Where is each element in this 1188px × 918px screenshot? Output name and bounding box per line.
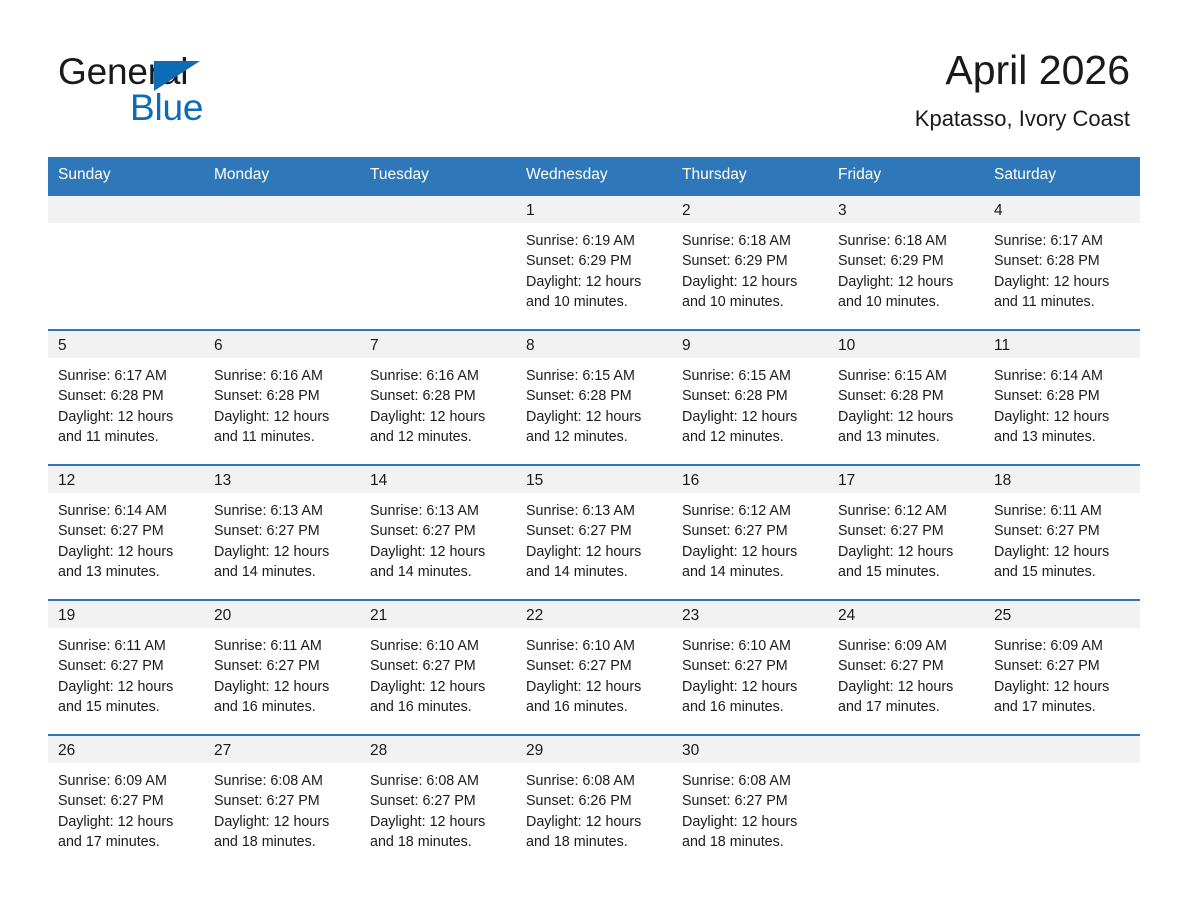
day-cell-inner [360,194,516,329]
day-detail-line: Sunset: 6:28 PM [994,251,1130,271]
day-cell-inner: 21Sunrise: 6:10 AMSunset: 6:27 PMDayligh… [360,599,516,734]
day-cell-inner: 4Sunrise: 6:17 AMSunset: 6:28 PMDaylight… [984,194,1140,329]
day-detail-line: Sunset: 6:27 PM [838,656,974,676]
day-detail-line: Sunset: 6:28 PM [994,386,1130,406]
day-details: Sunrise: 6:12 AMSunset: 6:27 PMDaylight:… [828,493,984,583]
day-detail-line: and 10 minutes. [838,292,974,312]
day-detail-line: Sunrise: 6:17 AM [58,366,194,386]
day-detail-line: Sunset: 6:28 PM [682,386,818,406]
calendar-day-cell[interactable]: 29Sunrise: 6:08 AMSunset: 6:26 PMDayligh… [516,734,672,869]
day-detail-line: Sunrise: 6:15 AM [838,366,974,386]
day-cell-inner: 13Sunrise: 6:13 AMSunset: 6:27 PMDayligh… [204,464,360,599]
day-details: Sunrise: 6:16 AMSunset: 6:28 PMDaylight:… [204,358,360,448]
day-detail-line: Daylight: 12 hours [58,677,194,697]
day-detail-line: and 18 minutes. [370,832,506,852]
day-detail-line: Daylight: 12 hours [526,812,662,832]
day-detail-line: Sunrise: 6:13 AM [370,501,506,521]
day-number: 17 [828,466,984,493]
day-detail-line: Sunrise: 6:15 AM [682,366,818,386]
day-detail-line: Daylight: 12 hours [526,677,662,697]
calendar-day-cell[interactable]: 17Sunrise: 6:12 AMSunset: 6:27 PMDayligh… [828,464,984,599]
day-detail-line: Daylight: 12 hours [214,542,350,562]
weekday-header: SundayMondayTuesdayWednesdayThursdayFrid… [48,157,1140,194]
day-detail-line: and 11 minutes. [994,292,1130,312]
calendar-day-cell[interactable]: 7Sunrise: 6:16 AMSunset: 6:28 PMDaylight… [360,329,516,464]
day-number: 10 [828,331,984,358]
day-detail-line: and 18 minutes. [682,832,818,852]
calendar-day-cell[interactable]: 22Sunrise: 6:10 AMSunset: 6:27 PMDayligh… [516,599,672,734]
day-details: Sunrise: 6:10 AMSunset: 6:27 PMDaylight:… [672,628,828,718]
calendar-day-cell[interactable]: 15Sunrise: 6:13 AMSunset: 6:27 PMDayligh… [516,464,672,599]
weekday-header-saturday: Saturday [984,157,1140,194]
day-detail-line: and 16 minutes. [370,697,506,717]
day-detail-line: and 14 minutes. [370,562,506,582]
day-number [204,196,360,223]
day-detail-line: Daylight: 12 hours [214,407,350,427]
day-detail-line: Daylight: 12 hours [58,407,194,427]
day-detail-line: Sunrise: 6:15 AM [526,366,662,386]
page-subtitle: Kpatasso, Ivory Coast [915,104,1130,134]
day-cell-inner: 16Sunrise: 6:12 AMSunset: 6:27 PMDayligh… [672,464,828,599]
day-detail-line: Daylight: 12 hours [838,677,974,697]
calendar-week-row: 26Sunrise: 6:09 AMSunset: 6:27 PMDayligh… [48,734,1140,869]
day-details: Sunrise: 6:15 AMSunset: 6:28 PMDaylight:… [672,358,828,448]
day-detail-line: and 12 minutes. [682,427,818,447]
day-detail-line: Daylight: 12 hours [214,677,350,697]
day-detail-line: Sunset: 6:27 PM [370,791,506,811]
day-details: Sunrise: 6:09 AMSunset: 6:27 PMDaylight:… [48,763,204,853]
calendar-day-cell[interactable]: 23Sunrise: 6:10 AMSunset: 6:27 PMDayligh… [672,599,828,734]
calendar-empty-cell [984,734,1140,869]
day-details: Sunrise: 6:14 AMSunset: 6:27 PMDaylight:… [48,493,204,583]
day-number: 14 [360,466,516,493]
calendar-page: General Blue April 2026 Kpatasso, Ivory … [0,0,1188,918]
day-detail-line: Sunrise: 6:13 AM [214,501,350,521]
day-detail-line: Sunrise: 6:11 AM [58,636,194,656]
day-detail-line: Sunset: 6:27 PM [58,791,194,811]
day-cell-inner: 22Sunrise: 6:10 AMSunset: 6:27 PMDayligh… [516,599,672,734]
day-detail-line: Daylight: 12 hours [838,542,974,562]
day-details: Sunrise: 6:11 AMSunset: 6:27 PMDaylight:… [204,628,360,718]
day-detail-line: and 17 minutes. [838,697,974,717]
day-detail-line: Sunrise: 6:11 AM [214,636,350,656]
day-detail-line: and 14 minutes. [682,562,818,582]
day-cell-inner: 2Sunrise: 6:18 AMSunset: 6:29 PMDaylight… [672,194,828,329]
day-number: 23 [672,601,828,628]
day-number: 27 [204,736,360,763]
day-details: Sunrise: 6:08 AMSunset: 6:27 PMDaylight:… [360,763,516,853]
day-detail-line: Daylight: 12 hours [994,677,1130,697]
day-detail-line: and 10 minutes. [682,292,818,312]
calendar-day-cell[interactable]: 11Sunrise: 6:14 AMSunset: 6:28 PMDayligh… [984,329,1140,464]
day-cell-inner: 23Sunrise: 6:10 AMSunset: 6:27 PMDayligh… [672,599,828,734]
day-detail-line: Daylight: 12 hours [994,542,1130,562]
calendar-day-cell[interactable]: 28Sunrise: 6:08 AMSunset: 6:27 PMDayligh… [360,734,516,869]
day-details: Sunrise: 6:08 AMSunset: 6:26 PMDaylight:… [516,763,672,853]
day-detail-line: and 16 minutes. [682,697,818,717]
day-detail-line: and 14 minutes. [526,562,662,582]
calendar-day-cell[interactable]: 30Sunrise: 6:08 AMSunset: 6:27 PMDayligh… [672,734,828,869]
day-detail-line: Daylight: 12 hours [838,272,974,292]
weekday-header-thursday: Thursday [672,157,828,194]
calendar-day-cell[interactable]: 2Sunrise: 6:18 AMSunset: 6:29 PMDaylight… [672,194,828,329]
day-detail-line: Daylight: 12 hours [370,677,506,697]
day-detail-line: Daylight: 12 hours [370,407,506,427]
day-number: 4 [984,196,1140,223]
day-detail-line: Sunrise: 6:16 AM [214,366,350,386]
day-detail-line: Sunset: 6:27 PM [994,656,1130,676]
day-number: 30 [672,736,828,763]
day-detail-line: Sunset: 6:29 PM [682,251,818,271]
calendar-day-cell[interactable]: 4Sunrise: 6:17 AMSunset: 6:28 PMDaylight… [984,194,1140,329]
day-details: Sunrise: 6:13 AMSunset: 6:27 PMDaylight:… [360,493,516,583]
day-detail-line: Sunset: 6:28 PM [526,386,662,406]
weekday-header-monday: Monday [204,157,360,194]
day-detail-line: Sunset: 6:29 PM [526,251,662,271]
day-detail-line: Sunrise: 6:12 AM [682,501,818,521]
day-number: 6 [204,331,360,358]
weekday-header-friday: Friday [828,157,984,194]
day-detail-line: Daylight: 12 hours [994,407,1130,427]
day-number: 13 [204,466,360,493]
day-details: Sunrise: 6:12 AMSunset: 6:27 PMDaylight:… [672,493,828,583]
day-detail-line: Sunset: 6:29 PM [838,251,974,271]
day-detail-line: Daylight: 12 hours [682,812,818,832]
calendar-week-row: 19Sunrise: 6:11 AMSunset: 6:27 PMDayligh… [48,599,1140,734]
day-detail-line: and 12 minutes. [526,427,662,447]
calendar-empty-cell [360,194,516,329]
calendar-day-cell[interactable]: 20Sunrise: 6:11 AMSunset: 6:27 PMDayligh… [204,599,360,734]
day-cell-inner [48,194,204,329]
day-cell-inner: 10Sunrise: 6:15 AMSunset: 6:28 PMDayligh… [828,329,984,464]
weekday-header-wednesday: Wednesday [516,157,672,194]
day-cell-inner: 24Sunrise: 6:09 AMSunset: 6:27 PMDayligh… [828,599,984,734]
day-detail-line: Sunset: 6:27 PM [214,656,350,676]
day-detail-line: Daylight: 12 hours [526,272,662,292]
day-detail-line: Sunrise: 6:08 AM [370,771,506,791]
day-cell-inner: 12Sunrise: 6:14 AMSunset: 6:27 PMDayligh… [48,464,204,599]
day-number [360,196,516,223]
day-details: Sunrise: 6:10 AMSunset: 6:27 PMDaylight:… [360,628,516,718]
day-detail-line: and 15 minutes. [58,697,194,717]
calendar-day-cell[interactable]: 21Sunrise: 6:10 AMSunset: 6:27 PMDayligh… [360,599,516,734]
day-detail-line: Sunrise: 6:14 AM [994,366,1130,386]
day-details: Sunrise: 6:11 AMSunset: 6:27 PMDaylight:… [48,628,204,718]
day-detail-line: Sunset: 6:27 PM [526,656,662,676]
day-detail-line: Sunrise: 6:14 AM [58,501,194,521]
page-title: April 2026 [915,46,1130,94]
calendar-week-row: 1Sunrise: 6:19 AMSunset: 6:29 PMDaylight… [48,194,1140,329]
day-details: Sunrise: 6:16 AMSunset: 6:28 PMDaylight:… [360,358,516,448]
day-number: 20 [204,601,360,628]
day-cell-inner: 14Sunrise: 6:13 AMSunset: 6:27 PMDayligh… [360,464,516,599]
calendar-week-row: 12Sunrise: 6:14 AMSunset: 6:27 PMDayligh… [48,464,1140,599]
day-details: Sunrise: 6:10 AMSunset: 6:27 PMDaylight:… [516,628,672,718]
day-detail-line: and 17 minutes. [994,697,1130,717]
day-details: Sunrise: 6:15 AMSunset: 6:28 PMDaylight:… [828,358,984,448]
day-cell-inner: 8Sunrise: 6:15 AMSunset: 6:28 PMDaylight… [516,329,672,464]
day-details: Sunrise: 6:17 AMSunset: 6:28 PMDaylight:… [48,358,204,448]
day-details: Sunrise: 6:13 AMSunset: 6:27 PMDaylight:… [516,493,672,583]
calendar-day-cell[interactable]: 6Sunrise: 6:16 AMSunset: 6:28 PMDaylight… [204,329,360,464]
day-detail-line: Daylight: 12 hours [682,677,818,697]
day-detail-line: Sunset: 6:28 PM [370,386,506,406]
calendar-day-cell[interactable]: 13Sunrise: 6:13 AMSunset: 6:27 PMDayligh… [204,464,360,599]
day-detail-line: Sunset: 6:27 PM [214,521,350,541]
calendar-day-cell[interactable]: 19Sunrise: 6:11 AMSunset: 6:27 PMDayligh… [48,599,204,734]
day-cell-inner: 11Sunrise: 6:14 AMSunset: 6:28 PMDayligh… [984,329,1140,464]
day-cell-inner: 7Sunrise: 6:16 AMSunset: 6:28 PMDaylight… [360,329,516,464]
calendar-table: SundayMondayTuesdayWednesdayThursdayFrid… [48,157,1140,869]
calendar-empty-cell [204,194,360,329]
day-detail-line: Daylight: 12 hours [838,407,974,427]
day-number: 16 [672,466,828,493]
day-details: Sunrise: 6:09 AMSunset: 6:27 PMDaylight:… [828,628,984,718]
calendar-day-cell[interactable]: 9Sunrise: 6:15 AMSunset: 6:28 PMDaylight… [672,329,828,464]
calendar-day-cell[interactable]: 3Sunrise: 6:18 AMSunset: 6:29 PMDaylight… [828,194,984,329]
day-detail-line: Daylight: 12 hours [370,812,506,832]
day-detail-line: and 13 minutes. [994,427,1130,447]
day-details: Sunrise: 6:19 AMSunset: 6:29 PMDaylight:… [516,223,672,313]
day-details: Sunrise: 6:14 AMSunset: 6:28 PMDaylight:… [984,358,1140,448]
calendar-header-row: SundayMondayTuesdayWednesdayThursdayFrid… [48,157,1140,194]
day-detail-line: and 17 minutes. [58,832,194,852]
calendar-day-cell[interactable]: 14Sunrise: 6:13 AMSunset: 6:27 PMDayligh… [360,464,516,599]
day-detail-line: Sunrise: 6:08 AM [214,771,350,791]
day-details: Sunrise: 6:08 AMSunset: 6:27 PMDaylight:… [204,763,360,853]
calendar-day-cell[interactable]: 10Sunrise: 6:15 AMSunset: 6:28 PMDayligh… [828,329,984,464]
day-details: Sunrise: 6:18 AMSunset: 6:29 PMDaylight:… [828,223,984,313]
day-details: Sunrise: 6:09 AMSunset: 6:27 PMDaylight:… [984,628,1140,718]
day-cell-inner: 29Sunrise: 6:08 AMSunset: 6:26 PMDayligh… [516,734,672,869]
day-detail-line: Sunset: 6:26 PM [526,791,662,811]
day-number: 3 [828,196,984,223]
day-detail-line: Sunrise: 6:11 AM [994,501,1130,521]
day-detail-line: Sunset: 6:27 PM [994,521,1130,541]
day-detail-line: and 18 minutes. [214,832,350,852]
day-detail-line: Sunset: 6:27 PM [526,521,662,541]
title-block: April 2026 Kpatasso, Ivory Coast [915,46,1130,134]
day-number: 12 [48,466,204,493]
day-detail-line: Daylight: 12 hours [994,272,1130,292]
day-cell-inner: 19Sunrise: 6:11 AMSunset: 6:27 PMDayligh… [48,599,204,734]
day-number: 29 [516,736,672,763]
day-detail-line: Sunset: 6:28 PM [214,386,350,406]
day-detail-line: and 14 minutes. [214,562,350,582]
day-detail-line: Sunrise: 6:17 AM [994,231,1130,251]
day-details: Sunrise: 6:08 AMSunset: 6:27 PMDaylight:… [672,763,828,853]
day-number [828,736,984,763]
day-detail-line: Sunrise: 6:09 AM [58,771,194,791]
day-detail-line: Sunrise: 6:09 AM [838,636,974,656]
day-number: 28 [360,736,516,763]
day-detail-line: Sunrise: 6:12 AM [838,501,974,521]
day-detail-line: Sunset: 6:27 PM [58,521,194,541]
day-detail-line: Sunset: 6:27 PM [370,521,506,541]
calendar-empty-cell [48,194,204,329]
weekday-header-sunday: Sunday [48,157,204,194]
day-detail-line: Sunrise: 6:16 AM [370,366,506,386]
day-detail-line: Sunrise: 6:10 AM [370,636,506,656]
page-header: General Blue April 2026 Kpatasso, Ivory … [0,0,1188,155]
day-detail-line: Daylight: 12 hours [214,812,350,832]
day-detail-line: Sunrise: 6:18 AM [838,231,974,251]
day-number [984,736,1140,763]
day-detail-line: Sunset: 6:27 PM [58,656,194,676]
day-number: 5 [48,331,204,358]
day-detail-line: Sunset: 6:27 PM [682,656,818,676]
day-detail-line: Daylight: 12 hours [526,542,662,562]
day-details: Sunrise: 6:18 AMSunset: 6:29 PMDaylight:… [672,223,828,313]
calendar-day-cell[interactable]: 27Sunrise: 6:08 AMSunset: 6:27 PMDayligh… [204,734,360,869]
day-detail-line: Sunset: 6:27 PM [838,521,974,541]
day-number: 11 [984,331,1140,358]
calendar-day-cell[interactable]: 26Sunrise: 6:09 AMSunset: 6:27 PMDayligh… [48,734,204,869]
calendar-day-cell[interactable]: 12Sunrise: 6:14 AMSunset: 6:27 PMDayligh… [48,464,204,599]
day-detail-line: Sunset: 6:27 PM [370,656,506,676]
day-detail-line: Daylight: 12 hours [370,542,506,562]
day-number: 26 [48,736,204,763]
day-detail-line: Daylight: 12 hours [58,542,194,562]
day-detail-line: Sunrise: 6:08 AM [526,771,662,791]
logo-text-blue: Blue [130,88,203,128]
day-detail-line: Sunrise: 6:13 AM [526,501,662,521]
calendar-day-cell[interactable]: 1Sunrise: 6:19 AMSunset: 6:29 PMDaylight… [516,194,672,329]
calendar-body: 1Sunrise: 6:19 AMSunset: 6:29 PMDaylight… [48,194,1140,869]
day-detail-line: Daylight: 12 hours [58,812,194,832]
day-cell-inner: 15Sunrise: 6:13 AMSunset: 6:27 PMDayligh… [516,464,672,599]
day-details: Sunrise: 6:13 AMSunset: 6:27 PMDaylight:… [204,493,360,583]
day-cell-inner: 20Sunrise: 6:11 AMSunset: 6:27 PMDayligh… [204,599,360,734]
day-cell-inner: 30Sunrise: 6:08 AMSunset: 6:27 PMDayligh… [672,734,828,869]
day-detail-line: and 13 minutes. [838,427,974,447]
day-cell-inner [984,734,1140,869]
day-number: 7 [360,331,516,358]
day-cell-inner: 17Sunrise: 6:12 AMSunset: 6:27 PMDayligh… [828,464,984,599]
day-detail-line: Daylight: 12 hours [682,542,818,562]
day-detail-line: Sunrise: 6:18 AM [682,231,818,251]
calendar-day-cell[interactable]: 18Sunrise: 6:11 AMSunset: 6:27 PMDayligh… [984,464,1140,599]
calendar-empty-cell [828,734,984,869]
day-detail-line: and 11 minutes. [214,427,350,447]
day-detail-line: Sunrise: 6:10 AM [682,636,818,656]
day-cell-inner: 1Sunrise: 6:19 AMSunset: 6:29 PMDaylight… [516,194,672,329]
day-detail-line: and 16 minutes. [526,697,662,717]
calendar-day-cell[interactable]: 24Sunrise: 6:09 AMSunset: 6:27 PMDayligh… [828,599,984,734]
day-number: 15 [516,466,672,493]
day-detail-line: Sunset: 6:28 PM [838,386,974,406]
day-cell-inner [828,734,984,869]
day-detail-line: Sunset: 6:28 PM [58,386,194,406]
day-detail-line: Daylight: 12 hours [526,407,662,427]
day-detail-line: and 15 minutes. [838,562,974,582]
weekday-header-tuesday: Tuesday [360,157,516,194]
day-detail-line: and 13 minutes. [58,562,194,582]
day-cell-inner: 18Sunrise: 6:11 AMSunset: 6:27 PMDayligh… [984,464,1140,599]
day-detail-line: Sunset: 6:27 PM [214,791,350,811]
day-number: 8 [516,331,672,358]
day-detail-line: Sunrise: 6:19 AM [526,231,662,251]
day-detail-line: and 16 minutes. [214,697,350,717]
day-number: 18 [984,466,1140,493]
day-cell-inner: 25Sunrise: 6:09 AMSunset: 6:27 PMDayligh… [984,599,1140,734]
calendar-day-cell[interactable]: 8Sunrise: 6:15 AMSunset: 6:28 PMDaylight… [516,329,672,464]
day-detail-line: Sunset: 6:27 PM [682,521,818,541]
day-number: 1 [516,196,672,223]
day-details: Sunrise: 6:15 AMSunset: 6:28 PMDaylight:… [516,358,672,448]
day-details: Sunrise: 6:17 AMSunset: 6:28 PMDaylight:… [984,223,1140,313]
day-number [48,196,204,223]
day-cell-inner: 5Sunrise: 6:17 AMSunset: 6:28 PMDaylight… [48,329,204,464]
day-detail-line: Daylight: 12 hours [682,407,818,427]
day-detail-line: and 12 minutes. [370,427,506,447]
day-detail-line: Sunset: 6:27 PM [682,791,818,811]
day-number: 24 [828,601,984,628]
day-number: 25 [984,601,1140,628]
day-cell-inner: 26Sunrise: 6:09 AMSunset: 6:27 PMDayligh… [48,734,204,869]
day-cell-inner: 6Sunrise: 6:16 AMSunset: 6:28 PMDaylight… [204,329,360,464]
calendar-day-cell[interactable]: 25Sunrise: 6:09 AMSunset: 6:27 PMDayligh… [984,599,1140,734]
day-detail-line: Sunrise: 6:09 AM [994,636,1130,656]
day-cell-inner: 9Sunrise: 6:15 AMSunset: 6:28 PMDaylight… [672,329,828,464]
day-details: Sunrise: 6:11 AMSunset: 6:27 PMDaylight:… [984,493,1140,583]
day-cell-inner [204,194,360,329]
day-number: 21 [360,601,516,628]
day-detail-line: and 15 minutes. [994,562,1130,582]
calendar-week-row: 5Sunrise: 6:17 AMSunset: 6:28 PMDaylight… [48,329,1140,464]
day-detail-line: and 11 minutes. [58,427,194,447]
day-cell-inner: 27Sunrise: 6:08 AMSunset: 6:27 PMDayligh… [204,734,360,869]
day-number: 9 [672,331,828,358]
calendar-day-cell[interactable]: 5Sunrise: 6:17 AMSunset: 6:28 PMDaylight… [48,329,204,464]
day-cell-inner: 3Sunrise: 6:18 AMSunset: 6:29 PMDaylight… [828,194,984,329]
generalblue-logo[interactable]: General Blue [58,52,318,132]
day-detail-line: Sunrise: 6:08 AM [682,771,818,791]
day-detail-line: and 10 minutes. [526,292,662,312]
calendar-day-cell[interactable]: 16Sunrise: 6:12 AMSunset: 6:27 PMDayligh… [672,464,828,599]
day-number: 19 [48,601,204,628]
day-detail-line: Daylight: 12 hours [682,272,818,292]
day-number: 22 [516,601,672,628]
day-detail-line: and 18 minutes. [526,832,662,852]
day-number: 2 [672,196,828,223]
day-detail-line: Sunrise: 6:10 AM [526,636,662,656]
day-cell-inner: 28Sunrise: 6:08 AMSunset: 6:27 PMDayligh… [360,734,516,869]
